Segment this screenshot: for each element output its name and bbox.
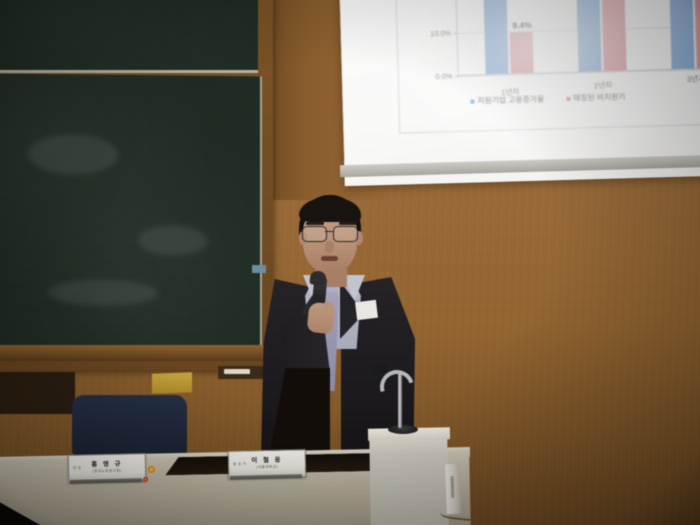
microphone-base — [388, 425, 418, 434]
bar-g2-series1 — [575, 0, 602, 72]
eyebrow-right — [339, 222, 357, 225]
dark-wall-panel — [0, 372, 75, 414]
bar-label-g1-series2: 9.4% — [512, 20, 532, 31]
chalkboard-upper-panel — [0, 0, 258, 73]
blue-chair — [72, 395, 187, 455]
yellow-card-on-rail — [152, 372, 192, 393]
chalkboard-texture — [0, 74, 260, 349]
eyebrow-left — [306, 222, 324, 225]
chalk-rail — [0, 345, 268, 361]
eyeglass-bridge — [325, 231, 333, 232]
legend-label-series2: 매칭된 비지원기 — [573, 91, 626, 103]
legend-swatch-icon-series1 — [470, 99, 474, 103]
name-badge — [355, 300, 378, 320]
nameplate-role-chair: 좌 장 — [73, 466, 82, 471]
nameplate-affiliation-chair: (한국노동연구원) — [92, 470, 121, 474]
nameplate-role-presenter: 발 표 자 — [233, 462, 247, 467]
legend-swatch-icon-series2 — [566, 96, 570, 100]
power-strip-slot — [451, 476, 455, 498]
mouth — [321, 256, 338, 261]
ytick-mark-10 — [454, 33, 458, 34]
nameplate-name-chair: 홍 영 규 — [91, 462, 122, 469]
gooseneck-microphone — [386, 372, 412, 434]
ytick-label-0: 0.0% — [435, 72, 452, 81]
chalk-smudge — [138, 225, 208, 256]
chalk-smudge — [28, 134, 118, 175]
chart-plot-area: 0.0% 10.0% 20.0% 30.0% 18.6% 9.4% 15.9% … — [454, 0, 700, 76]
bar-g1-series1 — [483, 0, 508, 74]
bar-g3-series1 — [668, 0, 695, 69]
xcat-label-3: 3년차 — [687, 73, 700, 85]
eyeglass-lens-left — [302, 226, 327, 242]
red-indicator-light — [143, 477, 148, 482]
legend-item-series1: 지원기업 고용증가율 — [470, 94, 544, 107]
bar-g2-series2 — [601, 0, 626, 71]
legend-label-series1: 지원기업 고용증가율 — [477, 94, 544, 107]
photo-scene: 0.0% 10.0% 20.0% 30.0% 18.6% 9.4% 15.9% … — [0, 0, 700, 525]
amber-indicator-light — [148, 466, 155, 473]
lectern — [369, 431, 449, 525]
hair-fringe — [299, 198, 361, 222]
eyeglasses-icon — [302, 226, 360, 241]
ytick-label-10: 10.0% — [430, 29, 452, 39]
chalk-piece — [224, 369, 250, 374]
nose — [325, 241, 334, 253]
eyeglass-lens-right — [333, 226, 358, 242]
bar-g1-series2 — [510, 31, 534, 74]
xcat-label-2: 2년차 — [594, 79, 613, 91]
microphone-head-icon — [309, 270, 326, 285]
projected-slide: 0.0% 10.0% 20.0% 30.0% 18.6% 9.4% 15.9% … — [339, 0, 700, 161]
nameplate-name-presenter: 이 철 웅 — [251, 458, 282, 465]
chalkboard-texture — [0, 0, 258, 70]
legend-item-series2: 매칭된 비지원기 — [566, 91, 626, 104]
nameplate-affiliation-presenter: (서울대학교) — [256, 466, 278, 470]
ytick-mark-0 — [455, 76, 459, 77]
chalkboard-lower-panel — [0, 74, 262, 353]
